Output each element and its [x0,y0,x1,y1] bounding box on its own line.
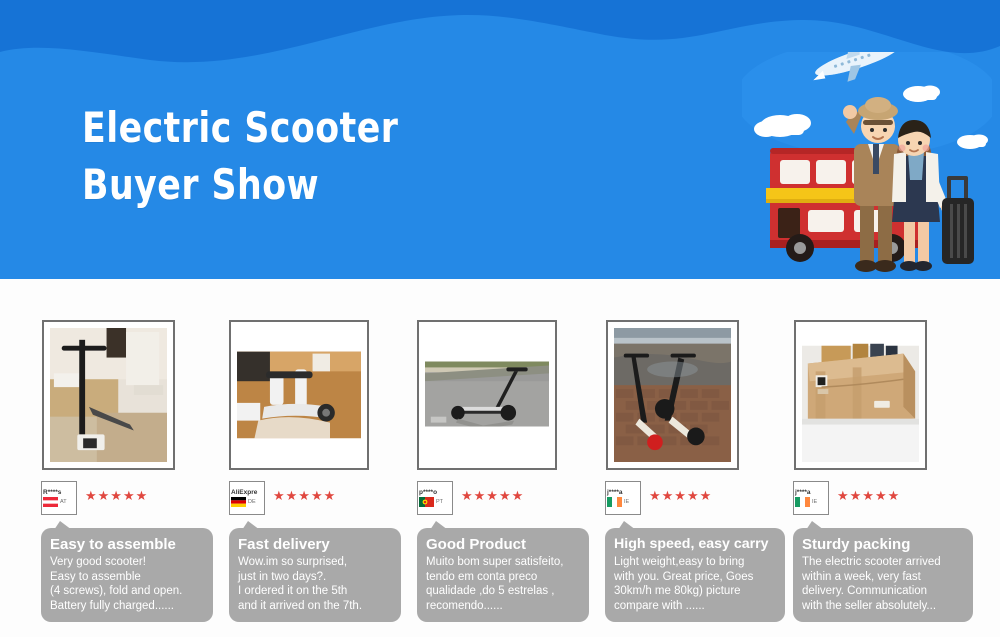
reviewer-username: p****o [417,489,453,497]
review-title: Fast delivery [238,535,392,554]
review-photo [802,328,919,462]
rating-stars: ★★★★★ [461,489,524,503]
review-title: Easy to assemble [50,535,204,554]
ireland-flag-icon [795,497,810,507]
reviewer-badge-row: j****a IE ★★★★★ [605,481,785,515]
buyer-show-page: Electric Scooter Buyer Show [0,0,1000,637]
review-title: Sturdy packing [802,535,964,554]
reviewer-chip[interactable]: p****o PT [417,481,453,515]
review-card[interactable]: p****o PT ★★★★★ Good Product Muit [409,279,599,637]
reviewer-country-code: IE [812,499,817,506]
reviewer-badge-row: p****o PT ★★★★★ [417,481,597,515]
review-title: High speed, easy carry [614,535,776,554]
review-bubble: Fast delivery Wow.im so surprised, just … [229,528,401,622]
reviewer-chip[interactable]: j****a IE [605,481,641,515]
reviewer-badge-row: R****s AT ★★★★★ [41,481,221,515]
rating-stars: ★★★★★ [273,489,336,503]
reviewer-chip[interactable]: AliExpre DE [229,481,265,515]
review-photo-frame[interactable] [606,320,739,470]
review-photo [50,328,167,462]
review-bubble: Sturdy packing The electric scooter arri… [793,528,973,622]
reviewer-chip[interactable]: j****a IE [793,481,829,515]
review-bubble: Good Product Muito bom super satisfeito,… [417,528,589,622]
review-photo [425,328,549,462]
reviewer-chip[interactable]: R****s AT [41,481,77,515]
reviewer-country-code: AT [60,499,67,506]
reviewer-username: R****s [41,489,77,497]
reviewer-country-code: IE [624,499,629,506]
review-photo-frame[interactable] [42,320,175,470]
reviewer-badge-row: j****a IE ★★★★★ [793,481,973,515]
cloud-icon [903,86,940,103]
reviewer-badge-row: AliExpre DE ★★★★★ [229,481,409,515]
reviewer-country-code: DE [248,499,256,506]
buyer-review-list: R****s AT ★★★★★ Easy to assemble Very go… [0,279,1000,637]
review-body: Wow.im so surprised, just in two days?. … [238,555,392,613]
reviewer-country-code: PT [436,499,443,506]
page-title: Electric Scooter Buyer Show [82,99,398,213]
review-bubble: Easy to assemble Very good scooter! Easy… [41,528,213,622]
review-photo-frame[interactable] [229,320,369,470]
germany-flag-icon [231,497,246,507]
review-card[interactable]: j****a IE ★★★★★ Sturdy packing The elect… [785,279,975,637]
ireland-flag-icon [607,497,622,507]
review-photo [614,328,731,462]
austria-flag-icon [43,497,58,507]
rating-stars: ★★★★★ [837,489,900,503]
rating-stars: ★★★★★ [85,489,148,503]
hero-banner: Electric Scooter Buyer Show [0,0,1000,279]
review-photo-frame[interactable] [794,320,927,470]
suitcase-icon [942,176,974,264]
portugal-flag-icon [419,497,434,507]
reviewer-username: j****a [793,489,829,497]
review-card[interactable]: R****s AT ★★★★★ Easy to assemble Very go… [33,279,223,637]
review-body: Very good scooter! Easy to assemble (4 s… [50,555,204,613]
reviewer-username: j****a [605,489,641,497]
review-photo-frame[interactable] [417,320,557,470]
travelers-illustration [742,52,992,279]
review-body: Muito bom super satisfeito, tendo em con… [426,555,580,613]
rating-stars: ★★★★★ [649,489,712,503]
review-body: Light weight,easy to bring with you. Gre… [614,555,776,613]
review-photo [237,328,361,462]
review-card[interactable]: AliExpre DE ★★★★★ Fast delivery Wow.im s… [221,279,411,637]
review-card[interactable]: j****a IE ★★★★★ High speed, easy carry L… [597,279,787,637]
review-title: Good Product [426,535,580,554]
cloud-icon [957,135,988,150]
reviewer-username: AliExpre [229,489,265,497]
review-bubble: High speed, easy carry Light weight,easy… [605,528,785,622]
review-body: The electric scooter arrived within a we… [802,555,964,613]
